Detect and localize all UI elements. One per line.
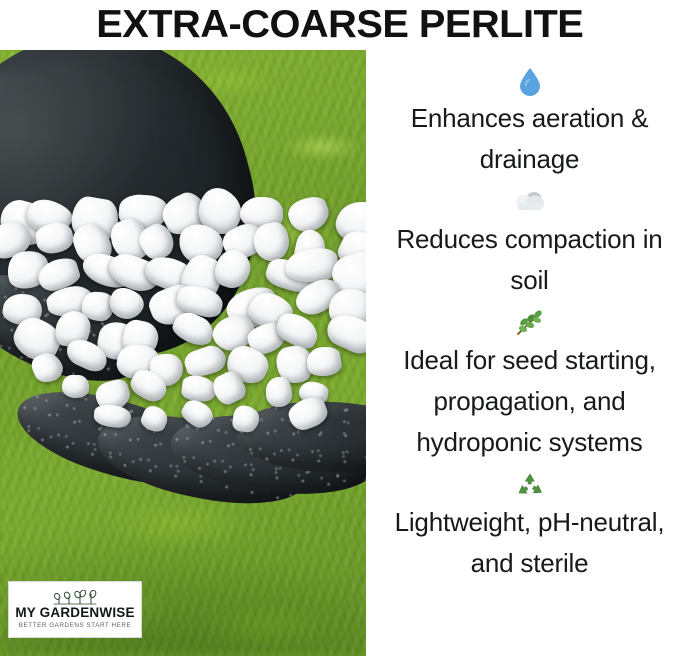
perlite-chunk: [179, 396, 218, 432]
herb-sprig-icon: [514, 308, 546, 338]
perlite-chunk: [93, 403, 132, 429]
benefit-text-4: Lightweight, pH-neutral, and sterile: [382, 502, 678, 584]
benefit-item-3: Ideal for seed starting, propagation, an…: [380, 308, 679, 463]
brand-logo-badge: MY GARDENWISE BETTER GARDENS START HERE: [8, 581, 142, 638]
perlite-chunk: [62, 375, 89, 399]
product-photo: MY GARDENWISE BETTER GARDENS START HERE: [0, 50, 366, 656]
benefit-item-1: Enhances aeration & drainage: [380, 66, 679, 180]
perlite-chunk: [231, 405, 260, 434]
benefit-item-2: Reduces compaction in soil: [380, 187, 679, 301]
water-droplet-icon: [517, 66, 543, 96]
seedlings-icon: [52, 590, 98, 605]
cloud-icon: [513, 187, 547, 217]
perlite-chunk: [181, 374, 218, 403]
brand-name: MY GARDENWISE: [15, 606, 134, 620]
page-title-bar: EXTRA-COARSE PERLITE: [0, 0, 679, 50]
perlite-chunk: [265, 376, 293, 407]
benefit-text-2: Reduces compaction in soil: [382, 219, 678, 301]
brand-tagline: BETTER GARDENS START HERE: [19, 622, 131, 629]
perlite-chunk: [138, 403, 171, 435]
benefit-text-1: Enhances aeration & drainage: [382, 98, 678, 180]
perlite-chunk: [34, 221, 74, 256]
perlite-granules: [0, 200, 366, 440]
benefit-text-3: Ideal for seed starting, propagation, an…: [382, 340, 678, 463]
recycling-icon: [515, 470, 545, 500]
page-title: EXTRA-COARSE PERLITE: [96, 3, 583, 47]
benefit-item-4: Lightweight, pH-neutral, and sterile: [380, 470, 679, 584]
benefits-list: Enhances aeration & drainage Reduces com…: [380, 50, 679, 656]
